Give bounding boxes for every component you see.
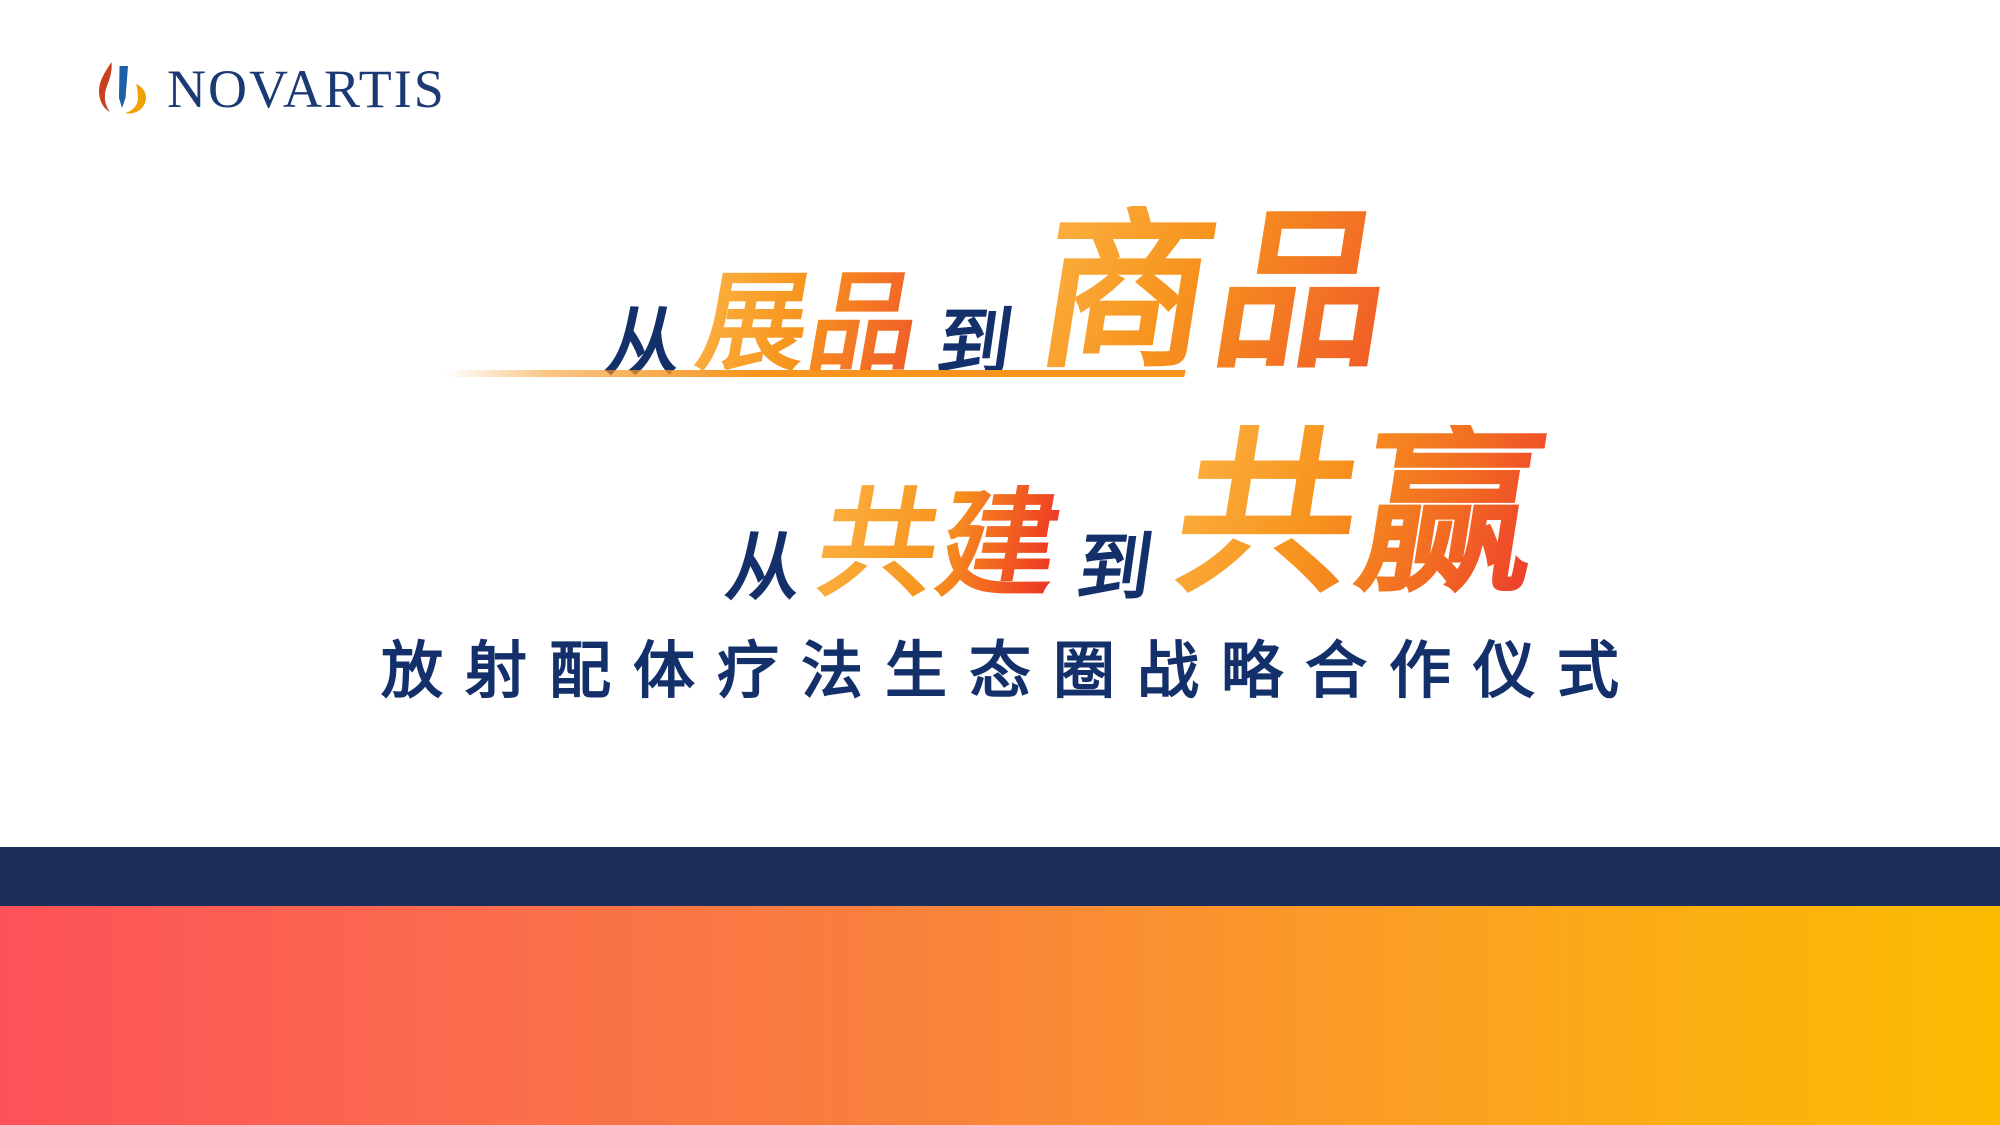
novartis-wordmark: NOVARTIS [167,62,446,116]
event-subtitle: 放射配体疗法生态圈战略合作仪式 [0,620,2000,710]
title-artwork: 从 展品 到 商品 从 共建 到 共赢 放射配体疗法生态圈战略合作仪式 [0,170,2000,670]
title-line1-product: 商品 [1027,206,1407,380]
title-line1-exhibit: 展品 [690,270,929,380]
title-line1-from: 从 [602,306,687,380]
novartis-logo: NOVARTIS [95,58,446,120]
title-line-1: 从 展品 到 商品 [0,170,2000,380]
title-line-2: 从 共建 到 共赢 [0,385,2000,605]
novartis-flame-icon [95,58,151,120]
title-line2-to: 到 [1073,531,1158,605]
title-divider-rule [444,370,1185,377]
title-line2-winwin: 共赢 [1165,425,1558,605]
title-line1-to: 到 [933,306,1018,380]
footer-navy-bar [0,847,2000,906]
title-line2-cobuild: 共建 [809,485,1070,605]
title-line2-from: 从 [722,531,807,605]
presentation-slide: NOVARTIS 从 展品 到 商品 从 共建 到 共赢 放射配体疗法生态圈战略… [0,0,2000,1125]
footer-gradient-bar [0,906,2000,1125]
